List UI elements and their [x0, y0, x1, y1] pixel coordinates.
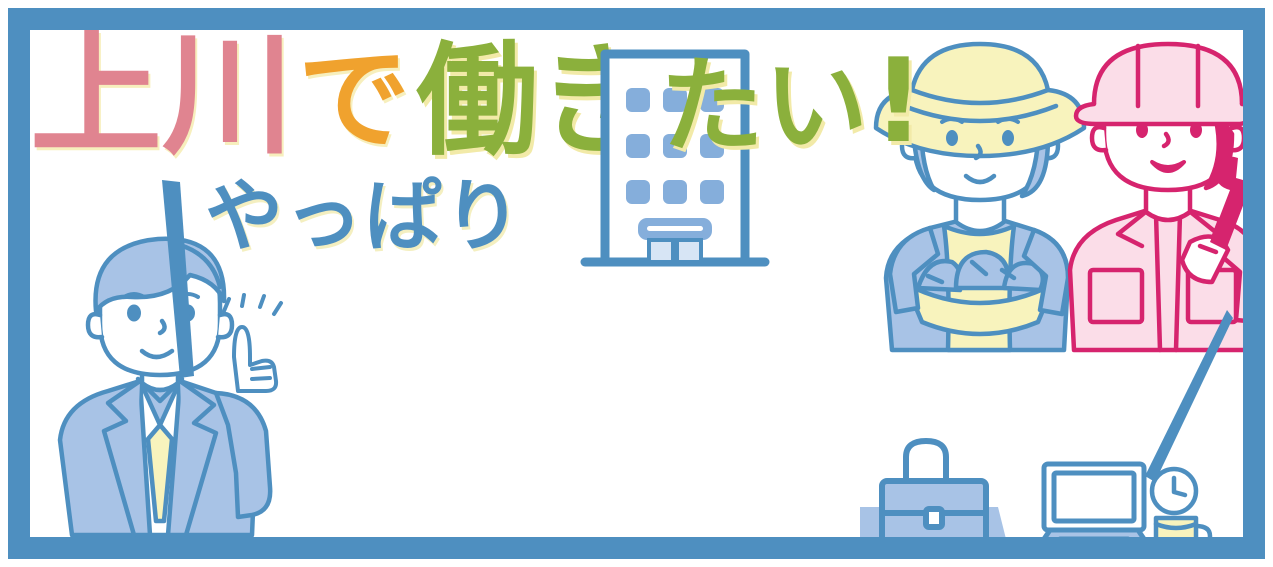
- briefcase-icon: [860, 435, 1010, 537]
- banner-image: やっぱり 上川 で 働き たい !: [0, 0, 1273, 567]
- banner-canvas: やっぱり 上川 で 働き たい !: [30, 30, 1243, 537]
- building-entrance: [638, 218, 712, 262]
- pointing-hand-icon: [218, 295, 298, 395]
- headline-segment-de: で: [298, 44, 410, 156]
- headline-segment-exclamation: !: [872, 44, 925, 160]
- headline-segment-kamikawa: 上川: [30, 30, 294, 162]
- coffee-mug-icon: [1150, 510, 1212, 537]
- headline-segment-tai: たい: [660, 54, 868, 158]
- headline-line-1: やっぱり: [205, 178, 523, 256]
- emphasis-slash-left-icon: [150, 180, 210, 380]
- emphasis-slash-right-icon: [1145, 310, 1235, 485]
- laptop-icon: [1030, 460, 1160, 537]
